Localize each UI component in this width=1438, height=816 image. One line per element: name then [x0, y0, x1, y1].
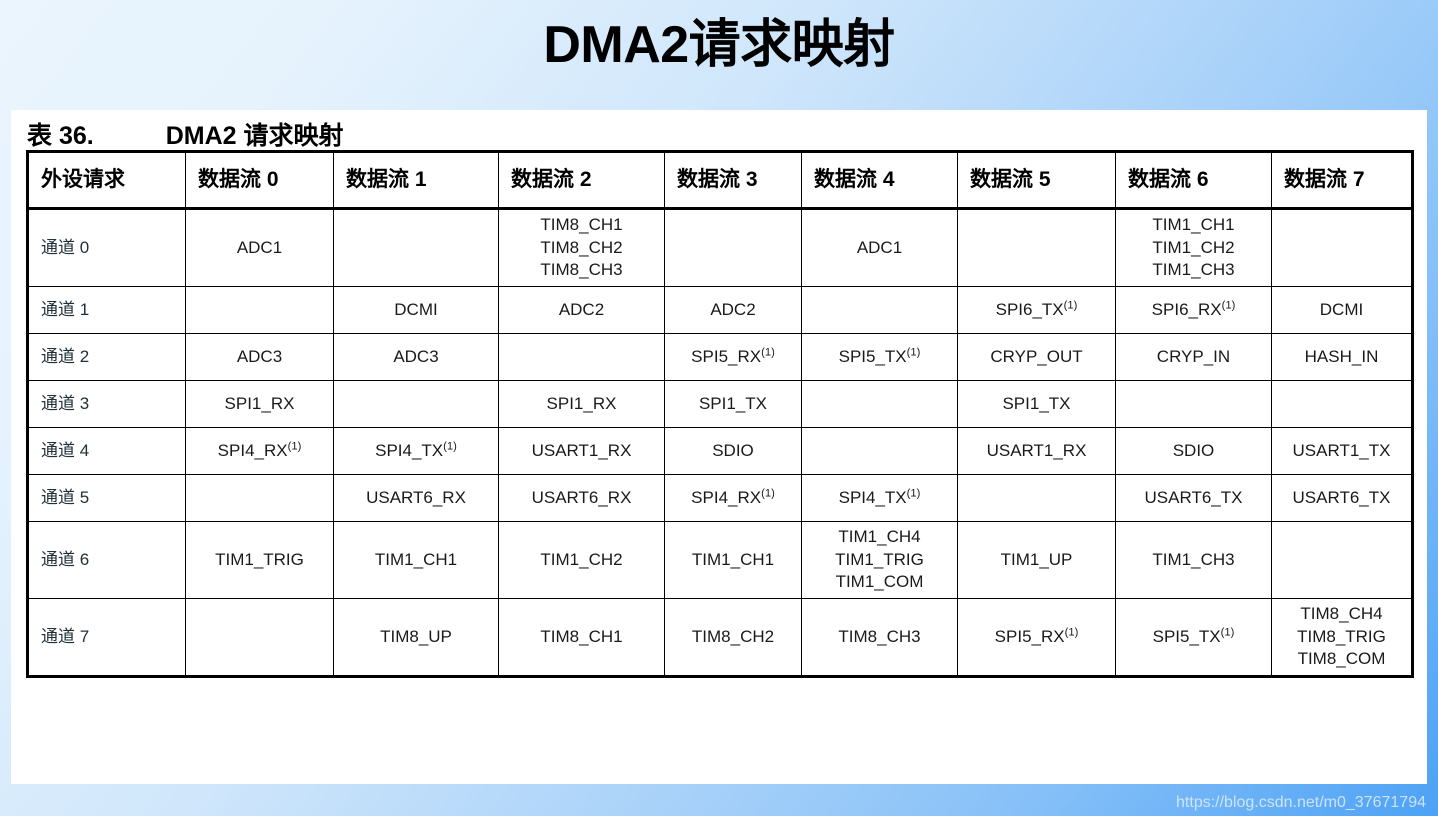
cell-ch1-stream3: ADC2: [665, 287, 802, 334]
row-label-channel-2: 通道 2: [28, 334, 186, 381]
cell-ch2-stream3: SPI5_RX(1): [665, 334, 802, 381]
table-row: 通道 1DCMIADC2ADC2SPI6_TX(1)SPI6_RX(1)DCMI: [28, 287, 1413, 334]
cell-ch5-stream1: USART6_RX: [334, 475, 499, 522]
cell-ch7-stream0: [186, 599, 334, 677]
cell-ch3-stream7: [1272, 381, 1413, 428]
table-row: 通道 3SPI1_RXSPI1_RXSPI1_TXSPI1_TX: [28, 381, 1413, 428]
cell-ch2-stream1: ADC3: [334, 334, 499, 381]
slide-canvas: DMA2请求映射 表 36.DMA2 请求映射 外设请求数据流 0数据流 1数据…: [0, 0, 1438, 816]
cell-ch1-stream7: DCMI: [1272, 287, 1413, 334]
cell-ch3-stream1: [334, 381, 499, 428]
column-header-2: 数据流 1: [334, 152, 499, 209]
cell-ch7-stream5: SPI5_RX(1): [958, 599, 1116, 677]
cell-ch7-stream7: TIM8_CH4TIM8_TRIGTIM8_COM: [1272, 599, 1413, 677]
cell-ch2-stream6: CRYP_IN: [1116, 334, 1272, 381]
column-header-3: 数据流 2: [499, 152, 665, 209]
cell-ch6-stream6: TIM1_CH3: [1116, 522, 1272, 599]
cell-ch5-stream5: [958, 475, 1116, 522]
table-header-row: 外设请求数据流 0数据流 1数据流 2数据流 3数据流 4数据流 5数据流 6数…: [28, 152, 1413, 209]
watermark: https://blog.csdn.net/m0_37671794: [1176, 794, 1426, 812]
cell-ch6-stream2: TIM1_CH2: [499, 522, 665, 599]
table-row: 通道 4SPI4_RX(1)SPI4_TX(1)USART1_RXSDIOUSA…: [28, 428, 1413, 475]
cell-ch6-stream1: TIM1_CH1: [334, 522, 499, 599]
cell-ch1-stream6: SPI6_RX(1): [1116, 287, 1272, 334]
row-label-channel-5: 通道 5: [28, 475, 186, 522]
table-row: 通道 0ADC1TIM8_CH1TIM8_CH2TIM8_CH3ADC1TIM1…: [28, 209, 1413, 287]
cell-ch3-stream6: [1116, 381, 1272, 428]
table-body: 通道 0ADC1TIM8_CH1TIM8_CH2TIM8_CH3ADC1TIM1…: [28, 209, 1413, 677]
column-header-6: 数据流 5: [958, 152, 1116, 209]
row-label-channel-7: 通道 7: [28, 599, 186, 677]
cell-ch1-stream4: [802, 287, 958, 334]
column-header-4: 数据流 3: [665, 152, 802, 209]
cell-ch0-stream0: ADC1: [186, 209, 334, 287]
cell-ch4-stream1: SPI4_TX(1): [334, 428, 499, 475]
cell-ch5-stream3: SPI4_RX(1): [665, 475, 802, 522]
cell-ch2-stream0: ADC3: [186, 334, 334, 381]
row-label-channel-0: 通道 0: [28, 209, 186, 287]
row-label-channel-3: 通道 3: [28, 381, 186, 428]
cell-ch2-stream4: SPI5_TX(1): [802, 334, 958, 381]
cell-ch7-stream3: TIM8_CH2: [665, 599, 802, 677]
cell-ch0-stream4: ADC1: [802, 209, 958, 287]
cell-ch5-stream4: SPI4_TX(1): [802, 475, 958, 522]
table-row: 通道 6TIM1_TRIGTIM1_CH1TIM1_CH2TIM1_CH1TIM…: [28, 522, 1413, 599]
cell-ch1-stream0: [186, 287, 334, 334]
cell-ch5-stream2: USART6_RX: [499, 475, 665, 522]
cell-ch6-stream7: [1272, 522, 1413, 599]
cell-ch0-stream2: TIM8_CH1TIM8_CH2TIM8_CH3: [499, 209, 665, 287]
column-header-7: 数据流 6: [1116, 152, 1272, 209]
table-caption-name: DMA2 请求映射: [166, 116, 344, 152]
cell-ch4-stream4: [802, 428, 958, 475]
cell-ch6-stream4: TIM1_CH4TIM1_TRIGTIM1_COM: [802, 522, 958, 599]
cell-ch7-stream6: SPI5_TX(1): [1116, 599, 1272, 677]
cell-ch2-stream5: CRYP_OUT: [958, 334, 1116, 381]
cell-ch1-stream2: ADC2: [499, 287, 665, 334]
table-row: 通道 7TIM8_UPTIM8_CH1TIM8_CH2TIM8_CH3SPI5_…: [28, 599, 1413, 677]
cell-ch6-stream3: TIM1_CH1: [665, 522, 802, 599]
cell-ch4-stream5: USART1_RX: [958, 428, 1116, 475]
cell-ch5-stream6: USART6_TX: [1116, 475, 1272, 522]
cell-ch5-stream7: USART6_TX: [1272, 475, 1413, 522]
cell-ch3-stream5: SPI1_TX: [958, 381, 1116, 428]
cell-ch4-stream0: SPI4_RX(1): [186, 428, 334, 475]
cell-ch2-stream7: HASH_IN: [1272, 334, 1413, 381]
cell-ch6-stream0: TIM1_TRIG: [186, 522, 334, 599]
cell-ch7-stream4: TIM8_CH3: [802, 599, 958, 677]
table-row: 通道 2ADC3ADC3SPI5_RX(1)SPI5_TX(1)CRYP_OUT…: [28, 334, 1413, 381]
cell-ch3-stream2: SPI1_RX: [499, 381, 665, 428]
table-caption-number: 表 36.: [27, 116, 94, 152]
cell-ch1-stream5: SPI6_TX(1): [958, 287, 1116, 334]
content-card: 表 36.DMA2 请求映射 外设请求数据流 0数据流 1数据流 2数据流 3数…: [11, 110, 1427, 784]
column-header-5: 数据流 4: [802, 152, 958, 209]
cell-ch0-stream5: [958, 209, 1116, 287]
page-title: DMA2请求映射: [0, 16, 1438, 76]
cell-ch2-stream2: [499, 334, 665, 381]
table-caption: 表 36.DMA2 请求映射: [27, 116, 344, 152]
column-header-0: 外设请求: [28, 152, 186, 209]
cell-ch7-stream1: TIM8_UP: [334, 599, 499, 677]
cell-ch3-stream3: SPI1_TX: [665, 381, 802, 428]
column-header-8: 数据流 7: [1272, 152, 1413, 209]
cell-ch3-stream0: SPI1_RX: [186, 381, 334, 428]
cell-ch1-stream1: DCMI: [334, 287, 499, 334]
cell-ch6-stream5: TIM1_UP: [958, 522, 1116, 599]
cell-ch3-stream4: [802, 381, 958, 428]
column-header-1: 数据流 0: [186, 152, 334, 209]
cell-ch0-stream3: [665, 209, 802, 287]
cell-ch0-stream6: TIM1_CH1TIM1_CH2TIM1_CH3: [1116, 209, 1272, 287]
cell-ch4-stream7: USART1_TX: [1272, 428, 1413, 475]
cell-ch4-stream6: SDIO: [1116, 428, 1272, 475]
cell-ch4-stream3: SDIO: [665, 428, 802, 475]
table-row: 通道 5USART6_RXUSART6_RXSPI4_RX(1)SPI4_TX(…: [28, 475, 1413, 522]
row-label-channel-1: 通道 1: [28, 287, 186, 334]
cell-ch4-stream2: USART1_RX: [499, 428, 665, 475]
cell-ch7-stream2: TIM8_CH1: [499, 599, 665, 677]
dma2-request-mapping-table: 外设请求数据流 0数据流 1数据流 2数据流 3数据流 4数据流 5数据流 6数…: [26, 150, 1414, 678]
cell-ch0-stream1: [334, 209, 499, 287]
row-label-channel-6: 通道 6: [28, 522, 186, 599]
row-label-channel-4: 通道 4: [28, 428, 186, 475]
cell-ch0-stream7: [1272, 209, 1413, 287]
cell-ch5-stream0: [186, 475, 334, 522]
